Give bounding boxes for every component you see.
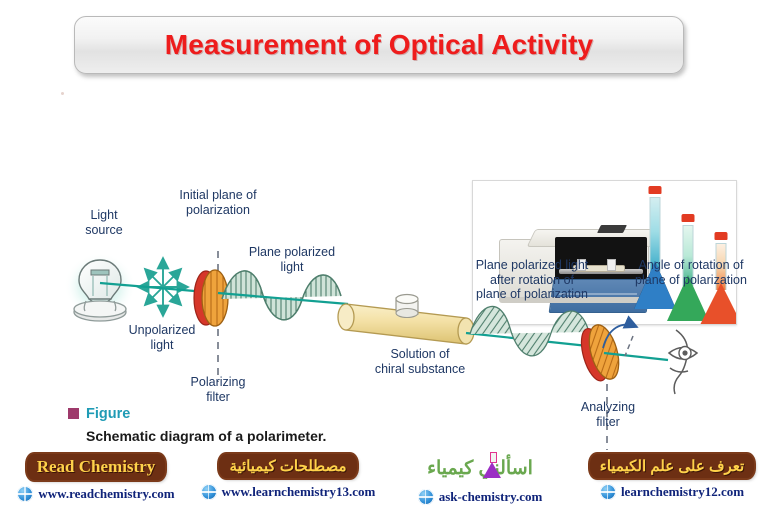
sample-tube-icon [338,295,474,345]
rotated-plane-dashed-line [625,336,633,356]
footer-url-row[interactable]: ask-chemistry.com [384,489,576,505]
footer-url-ask-chemistry[interactable]: ask-chemistry.com [439,489,543,505]
brand-logo-read-chemistry: Read Chemistry [27,454,166,480]
footer-site-2[interactable]: اسألني كيمياء ask-chemistry.com [384,450,576,527]
brand-logo-ask-chemistry-text: اسألني كيمياء [427,458,533,479]
figure-caption: Figure Schematic diagram of a polarimete… [68,405,326,444]
label-initial-plane: Initial plane of polarization [158,188,278,217]
label-angle-of-rotation: Angle of rotation of plane of polarizati… [618,258,764,287]
label-polarizing-filter: Polarizing filter [172,375,264,404]
footer-url-learnchemistry13[interactable]: www.learnchemistry13.com [222,484,376,500]
label-analyzing-filter: Analyzing filter [562,400,654,429]
footer-bar: Read Chemistry www.readchemistry.com مصط… [0,450,768,527]
footer-url-row[interactable]: learnchemistry12.com [576,484,768,500]
brand-logo-ask-chemistry: اسألني كيمياء [417,454,543,483]
footer-url-row[interactable]: www.learnchemistry13.com [192,484,384,500]
analyzing-filter-icon [576,322,624,385]
page-title: Measurement of Optical Activity [165,29,593,61]
footer-site-3[interactable]: تعرف على علم الكيمياء learnchemistry12.c… [576,450,768,527]
brand-logo-mostalahat-kimiaiya: مصطلحات كيميائية [219,454,356,478]
globe-icon [600,484,616,500]
figure-caption-head: Figure [68,405,326,423]
rotated-polarized-wave [470,306,589,355]
globe-icon [418,489,434,505]
label-solution: Solution of chiral substance [355,347,485,376]
footer-site-1[interactable]: مصطلحات كيميائية www.learnchemistry13.co… [192,450,384,527]
footer-url-row[interactable]: www.readchemistry.com [0,486,192,502]
label-unpolarized-light: Unpolarized light [110,323,214,352]
footer-site-0[interactable]: Read Chemistry www.readchemistry.com [0,450,192,527]
page-title-bar: Measurement of Optical Activity [74,16,684,74]
label-after-rotation: Plane polarized light after rotation of … [462,258,602,302]
brand-logo-taaraf-ala-ilm-alkimya: تعرف على علم الكيمياء [590,454,754,478]
figure-caption-text: Schematic diagram of a polarimeter. [86,428,326,444]
footer-url-readchemistry[interactable]: www.readchemistry.com [38,486,174,502]
footer-url-learnchemistry12[interactable]: learnchemistry12.com [621,484,744,500]
polarimeter-diagram: Light source Unpolarized light Initial p… [0,80,768,450]
flask-icon [483,452,501,478]
figure-label: Figure [86,406,130,422]
globe-icon [17,486,33,502]
flask-body-icon [483,462,501,478]
eye-icon [669,330,697,394]
globe-icon [201,484,217,500]
label-plane-polarized: Plane polarized light [236,245,348,274]
caption-square-bullet [68,408,79,419]
label-light-source: Light source [64,208,144,237]
